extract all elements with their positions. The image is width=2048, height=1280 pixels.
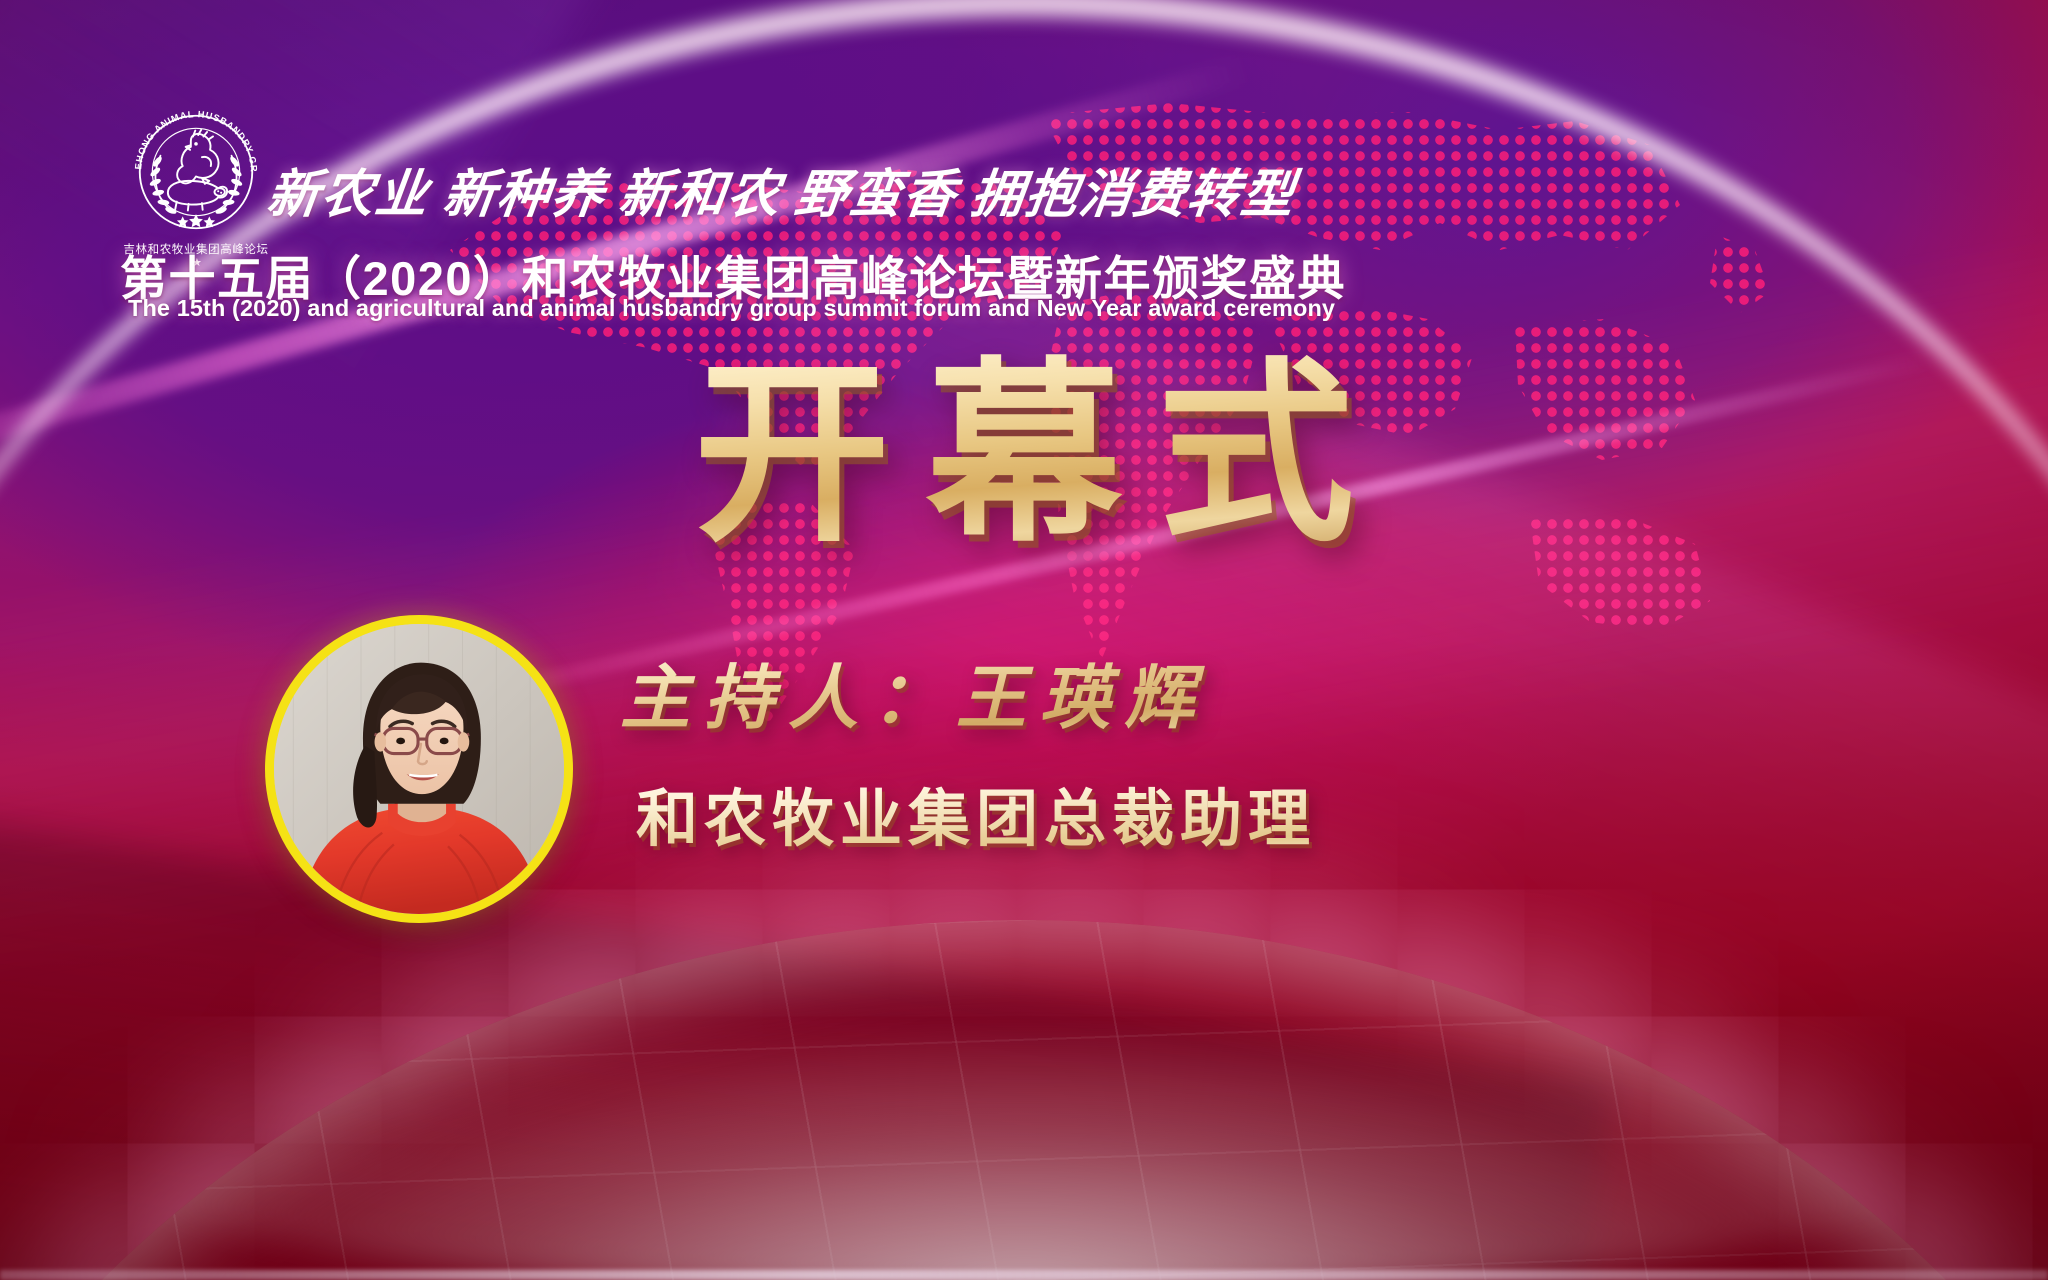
host-role-line: 和农牧业集团总裁助理 [636,768,1316,858]
portrait-illustration [274,624,564,914]
brand-slogan: 新农业新种养新和农野蛮香拥抱消费转型 [263,152,1314,227]
rooster-icon [177,130,218,184]
slogan-part-1: 新农业 [263,152,434,227]
host-name-line: 主持人：王瑛辉 [620,642,1208,743]
event-title-en: The 15th (2020) and agricultural and ani… [128,295,1335,322]
slogan-part-2: 新种养 [439,152,610,227]
slogan-part-5: 拥抱消费转型 [967,152,1300,227]
pig-icon [168,178,227,211]
company-logo: CHINA JILIN HEHONG ANIMAL HUSBANDRY GROU… [122,98,270,246]
host-portrait-avatar [265,615,573,923]
logo-emblem-icon: CHINA JILIN HEHONG ANIMAL HUSBANDRY GROU… [122,98,270,246]
slide-canvas: CHINA JILIN HEHONG ANIMAL HUSBANDRY GROU… [0,0,2048,1280]
slogan-part-4: 野蛮香 [791,152,962,227]
slogan-part-3: 新和农 [615,152,786,227]
star-row-icon [177,214,215,227]
